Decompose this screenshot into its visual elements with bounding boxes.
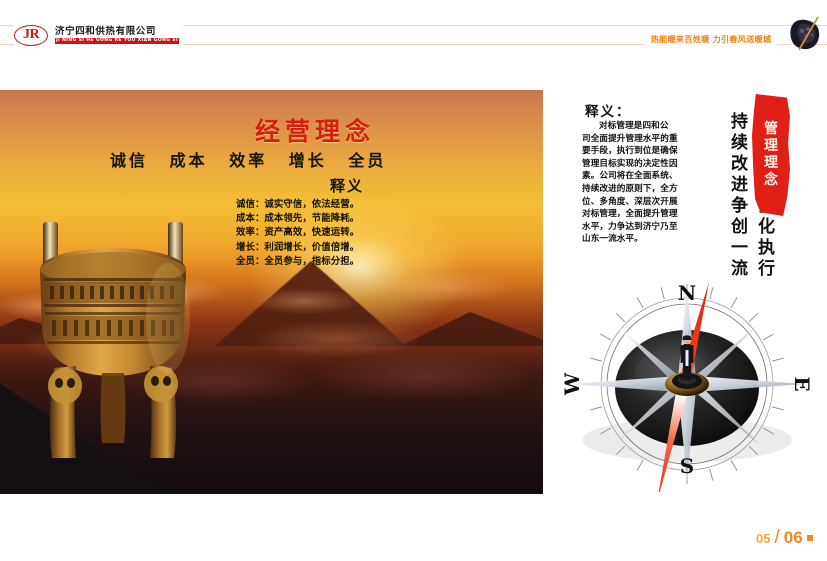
brochure-page: JR 济宁四和供热有限公司 JI NING SI HE GONG RE YOU …: [0, 0, 827, 561]
seal-char: 理: [764, 156, 778, 171]
body-line: 司全面提升管理水平的重: [582, 133, 707, 146]
explanation-heading: 释义：: [585, 100, 632, 120]
body-line: 对标管理，全面提升管理: [582, 208, 707, 221]
definition-line: 成本：成本领先，节能降耗。: [236, 212, 396, 226]
seal-char: 念: [764, 173, 778, 188]
compass-label-south: S: [680, 454, 694, 478]
definition-line: 效率：资产高效，快速运转。: [236, 226, 396, 240]
company-name-en: JI NING SI HE GONG RE YOU XIAN GONG SI: [55, 38, 179, 45]
definition-line: 增长：利润增长，价值倍增。: [236, 241, 396, 255]
page-number: 05 / 06: [756, 528, 813, 548]
company-name-block: 济宁四和供热有限公司 JI NING SI HE GONG RE YOU XIA…: [55, 26, 179, 45]
jr-monogram-icon: JR: [14, 25, 48, 46]
jr-monogram-label: JR: [23, 28, 39, 42]
body-line: 山东一流水平。: [582, 233, 707, 246]
hero-photo: 经营理念 诚信 成本 效率 增长 全员 释义 诚信：诚实守信，依法经营。 成本：…: [0, 90, 543, 494]
photo-keyword: 全员: [348, 151, 386, 170]
photo-sub-heading: 释义: [330, 175, 364, 196]
bronze-ding-icon: [18, 208, 208, 473]
red-seal-stamp: 管 理 理 念: [752, 94, 790, 216]
right-text-column: 释义： 对标管理是四和公 司全面提升管理水平的重 要手段，执行到位是确保 管理目…: [560, 92, 827, 292]
photo-title: 经营理念: [255, 112, 375, 148]
header-slogan: 热能暖来百姓暖 力引春风送暖城: [645, 27, 777, 46]
explanation-body: 对标管理是四和公 司全面提升管理水平的重 要手段，执行到位是确保 管理目标实现的…: [582, 120, 707, 246]
body-line: 管理目标实现的决定性因: [582, 158, 707, 171]
photo-keyword: 成本: [170, 151, 208, 170]
compass-rose-icon: N S E W: [552, 272, 822, 492]
photo-definition-list: 诚信：诚实守信，依法经营。 成本：成本领先，节能降耗。 效率：资产高效，快速运转…: [236, 198, 396, 269]
photo-keywords: 诚信 成本 效率 增长 全员: [110, 147, 386, 171]
body-line: 水平，力争达到济宁乃至: [582, 221, 707, 234]
company-logo: JR 济宁四和供热有限公司 JI NING SI HE GONG RE YOU …: [14, 22, 183, 48]
seal-char: 管: [764, 122, 778, 137]
body-line: 持续改进的原则下，全方: [582, 183, 707, 196]
body-line: 要手段，执行到位是确保: [582, 145, 707, 158]
photo-keyword: 效率: [229, 151, 267, 170]
page-header: JR 济宁四和供热有限公司 JI NING SI HE GONG RE YOU …: [0, 0, 827, 70]
company-name-cn: 济宁四和供热有限公司: [55, 26, 179, 37]
compass-label-north: N: [678, 281, 696, 305]
seal-char: 理: [764, 139, 778, 154]
page-current: 05: [756, 531, 770, 546]
vertical-slogan-left: 持续改进争创一流: [728, 112, 745, 280]
seal-text: 管 理 理 念: [752, 94, 790, 216]
compass-label-east: E: [790, 376, 814, 391]
page-total: 06: [784, 528, 803, 548]
body-line: 位、多角度、深层次开展: [582, 196, 707, 209]
page-marker-square: [807, 535, 813, 541]
body-line: 素。公司将在全面系统、: [582, 170, 707, 183]
page-separator: /: [774, 530, 779, 546]
compass-label-west: W: [560, 372, 584, 396]
definition-line: 诚信：诚实守信，依法经营。: [236, 198, 396, 212]
ink-blot-icon: [787, 14, 825, 54]
photo-keyword: 诚信: [110, 151, 148, 170]
photo-keyword: 增长: [289, 151, 327, 170]
body-line: 对标管理是四和公: [582, 120, 707, 133]
header-slogan-text: 热能暖来百姓暖 力引春风送暖城: [651, 34, 771, 44]
definition-line: 全员：全员参与，指标分担。: [236, 255, 396, 269]
